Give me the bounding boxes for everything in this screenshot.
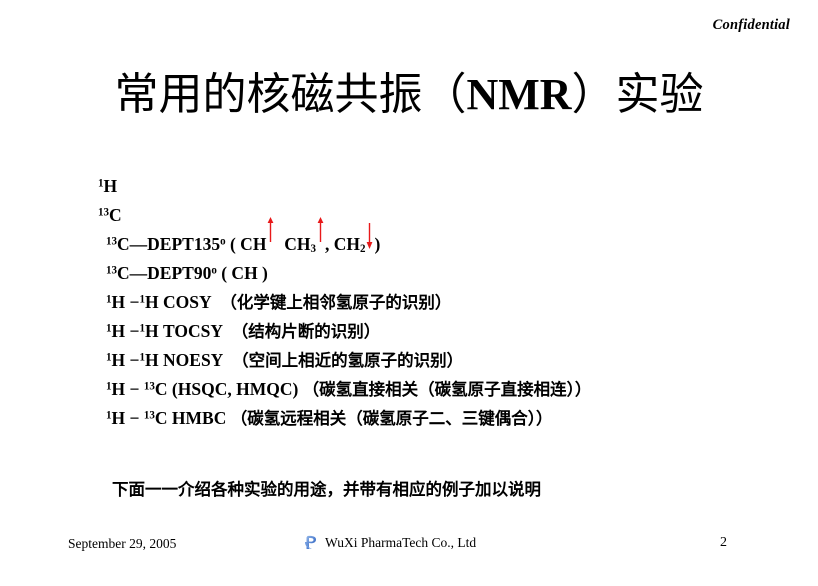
nucleus-label-left: H [112, 350, 126, 370]
dept90-paren-group: ( CH ) [221, 263, 268, 283]
footer-company-name: WuXi PharmaTech Co., Ltd [325, 535, 476, 551]
wuxi-p-logo-icon [303, 534, 320, 551]
nucleus-label-left: H [112, 379, 126, 399]
experiment-description: （碳氢远程相关（碳氢原子二、三键偶合）） [231, 409, 553, 428]
nucleus-label-left: H [112, 292, 126, 312]
arrow-up-icon-ch3 [316, 233, 325, 251]
nucleus-label-left: H [112, 321, 126, 341]
experiment-name: COSY [163, 292, 212, 312]
list-item-hsqc-hmqc: 1H − 13C (HSQC, HMQC) （碳氢直接相关（碳氢原子直接相连）） [98, 375, 798, 404]
experiment-name: DEPT90 [147, 263, 211, 283]
dash-separator: — [130, 263, 148, 283]
experiment-description: （化学键上相邻氢原子的识别） [220, 293, 451, 312]
experiment-name: (HSQC, HMQC) [172, 379, 298, 399]
list-item-tocsy: 1H −1H TOCSY （结构片断的识别） [98, 317, 798, 346]
dash-separator: − [130, 321, 140, 341]
footer-page-number: 2 [720, 535, 727, 551]
page-title: 常用的核磁共振（NMR）实验 [0, 68, 818, 122]
list-item-cosy: 1H −1H COSY （化学键上相邻氢原子的识别） [98, 288, 798, 317]
group-ch2-stem: CH [334, 234, 360, 254]
nucleus-label: C [109, 205, 122, 225]
footer-date: September 29, 2005 [68, 536, 176, 552]
list-item-hmbc: 1H − 13C HMBC （碳氢远程相关（碳氢原子二、三键偶合）） [98, 404, 798, 433]
experiment-name: DEPT135 [147, 234, 220, 254]
isotope-superscript-right: 13 [144, 380, 155, 392]
degree-superscript: o [220, 235, 226, 247]
nucleus-label: C [117, 234, 130, 254]
experiment-description: （碳氢直接相关（碳氢原子直接相连）） [303, 380, 592, 399]
experiment-name: TOCSY [163, 321, 223, 341]
nucleus-label: H [104, 176, 118, 196]
nucleus-label-right: H [145, 350, 159, 370]
dash-separator: − [130, 350, 140, 370]
nucleus-label: C [117, 263, 130, 283]
experiment-name: HMBC [172, 408, 226, 428]
list-item-dept135: 13C—DEPT135o ( CH CH3, CH2) [98, 230, 798, 259]
page-title-prefix: 常用的核磁共振（ [114, 70, 466, 119]
confidential-marking: Confidential [713, 17, 790, 34]
arrow-down-icon-ch2 [365, 233, 374, 251]
degree-superscript: o [211, 264, 217, 276]
group-ch3: CH3 [284, 234, 316, 254]
group-ch3-stem: CH [284, 234, 310, 254]
list-item-noesy: 1H −1H NOESY （空间上相近的氢原子的识别） [98, 346, 798, 375]
page-title-acronym: NMR [466, 70, 571, 119]
isotope-superscript-right: 13 [144, 409, 155, 421]
dash-separator: — [130, 234, 148, 254]
nucleus-label-right: C [155, 408, 168, 428]
closing-note: 下面一一介绍各种实验的用途，并带有相应的例子加以说明 [112, 476, 541, 500]
nucleus-label-right: H [145, 321, 159, 341]
list-item-proton: 1H [98, 172, 798, 201]
dash-separator: − [130, 408, 140, 428]
experiment-name: NOESY [163, 350, 223, 370]
isotope-superscript: 13 [98, 206, 109, 218]
dash-separator: − [130, 292, 140, 312]
experiment-list: 1H 13C 13C—DEPT135o ( CH CH3, CH2) 13C—D… [98, 172, 798, 433]
nucleus-label-right: C [155, 379, 168, 399]
arrow-up-icon-ch [266, 233, 275, 251]
comma-separator: , [325, 234, 329, 254]
nucleus-label-left: H [112, 408, 126, 428]
group-ch2: CH2 [334, 234, 366, 254]
footer-company-block: WuXi PharmaTech Co., Ltd [303, 534, 476, 551]
list-item-carbon13: 13C [98, 201, 798, 230]
page-title-suffix: ）实验 [572, 70, 704, 119]
experiment-description: （空间上相近的氢原子的识别） [232, 351, 463, 370]
isotope-superscript: 13 [106, 264, 117, 276]
dash-separator: − [130, 379, 140, 399]
experiment-description: （结构片断的识别） [232, 322, 381, 341]
dept135-open-paren: ( CH [230, 234, 266, 254]
dept135-close-paren: ) [374, 234, 380, 254]
nucleus-label-right: H [145, 292, 159, 312]
list-item-dept90: 13C—DEPT90o ( CH ) [98, 259, 798, 288]
isotope-superscript: 13 [106, 235, 117, 247]
